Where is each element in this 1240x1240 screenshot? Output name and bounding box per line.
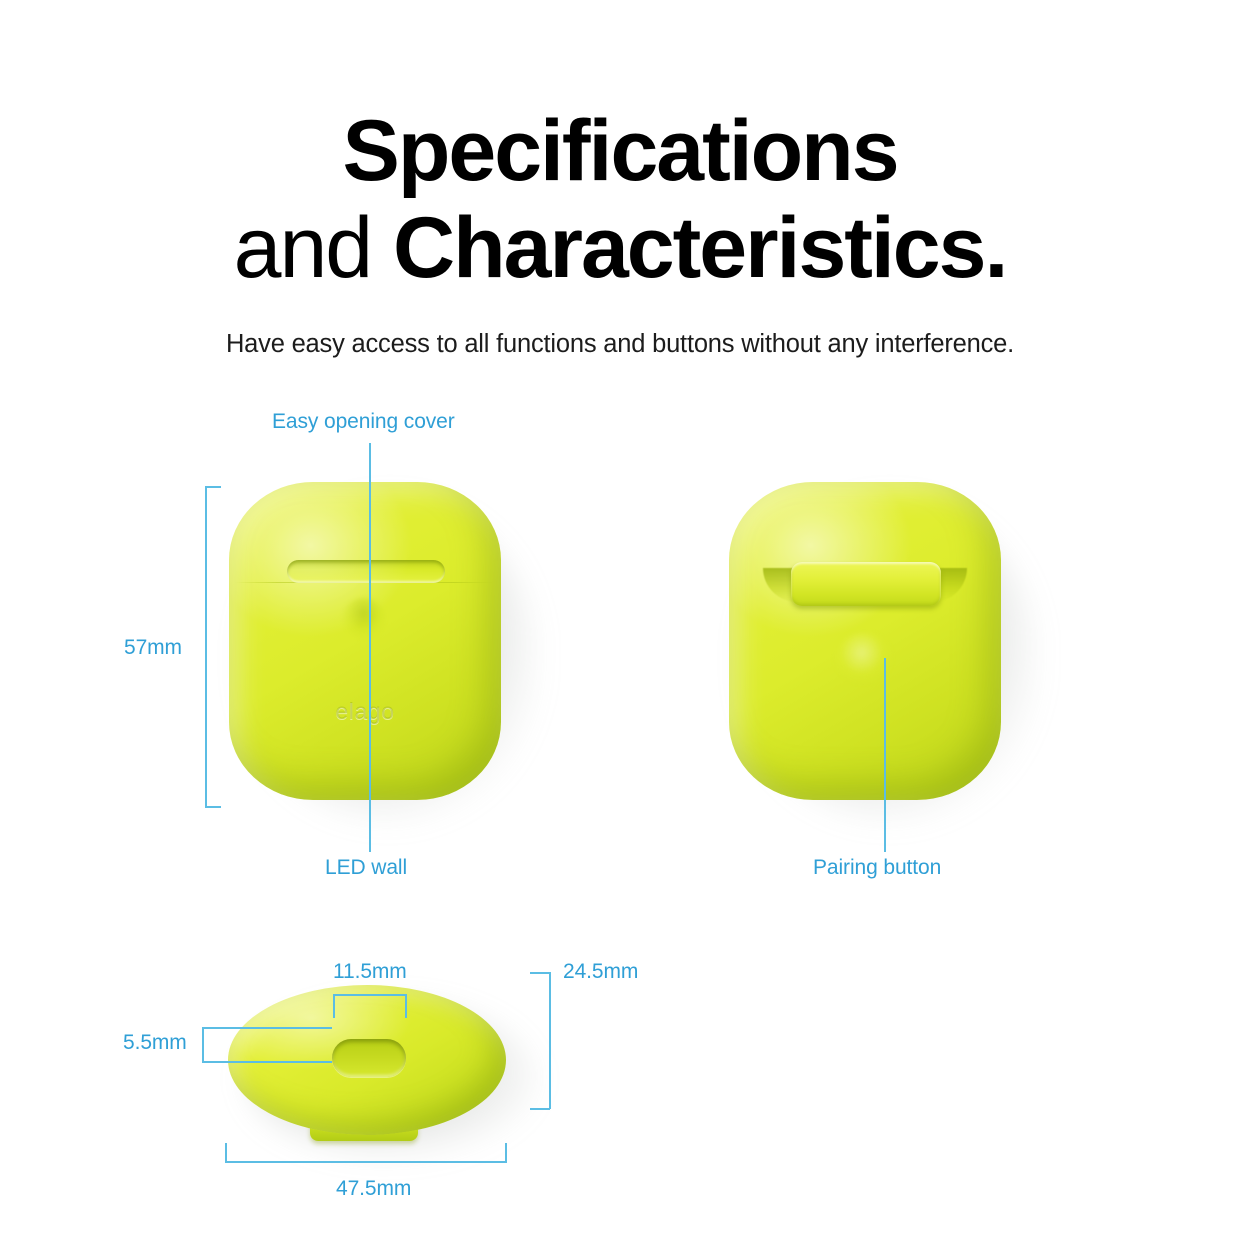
led-wall-dimple bbox=[343, 598, 385, 638]
back-view-figure bbox=[725, 478, 1025, 818]
bracket-57mm-tick-top bbox=[205, 486, 221, 488]
label-11-5mm: 11.5mm bbox=[333, 960, 407, 984]
easy-opening-cover-slot bbox=[287, 560, 445, 583]
leader-line-led-wall bbox=[369, 610, 371, 852]
bracket-11-5mm-horizontal bbox=[333, 994, 407, 996]
bracket-11-5mm-tick-left bbox=[333, 994, 335, 1018]
back-case-body bbox=[729, 482, 1001, 800]
label-easy-opening-cover: Easy opening cover bbox=[272, 410, 455, 434]
label-47-5mm: 47.5mm bbox=[336, 1177, 411, 1201]
bottom-view-figure bbox=[228, 985, 538, 1160]
page-title-line-2: and Characteristics. bbox=[0, 200, 1240, 296]
label-led-wall: LED wall bbox=[325, 856, 407, 880]
title-characteristics: Characteristics. bbox=[393, 200, 1006, 296]
bracket-57mm-vertical bbox=[205, 486, 207, 808]
page-subtitle: Have easy access to all functions and bu… bbox=[0, 330, 1240, 359]
title-and: and bbox=[234, 200, 393, 296]
bracket-24-5mm-vertical bbox=[549, 972, 551, 1109]
leader-line-pairing-button bbox=[884, 658, 886, 852]
bracket-5-5mm-tick-left bbox=[202, 1027, 204, 1062]
label-24-5mm: 24.5mm bbox=[563, 960, 638, 984]
bracket-5-5mm-line-top bbox=[202, 1027, 332, 1029]
page-header: Specifications and Characteristics. Have… bbox=[0, 0, 1240, 359]
bracket-24-5mm-tick-bottom bbox=[530, 1108, 550, 1110]
elago-brandmark: elago bbox=[229, 698, 501, 725]
label-5-5mm: 5.5mm bbox=[123, 1031, 187, 1055]
bracket-47-5mm-tick-right bbox=[505, 1143, 507, 1161]
bracket-5-5mm-line-bottom bbox=[202, 1061, 332, 1063]
bracket-47-5mm-horizontal bbox=[225, 1161, 507, 1163]
bottom-case-body bbox=[228, 985, 506, 1135]
bracket-24-5mm-tick-top bbox=[530, 972, 550, 974]
port-opening-cutout bbox=[332, 1039, 406, 1077]
hinge-cover-bar bbox=[791, 562, 941, 606]
bracket-11-5mm-tick-right bbox=[405, 994, 407, 1018]
label-57mm: 57mm bbox=[124, 636, 182, 660]
page-title-line-1: Specifications bbox=[0, 108, 1240, 194]
bracket-57mm-tick-bottom bbox=[205, 806, 221, 808]
label-pairing-button: Pairing button bbox=[813, 856, 941, 880]
bracket-47-5mm-tick-left bbox=[225, 1143, 227, 1161]
front-view-figure: elago bbox=[225, 478, 525, 818]
leader-line-easy-opening-cover bbox=[369, 443, 371, 618]
title-specifications: Specifications bbox=[342, 103, 897, 199]
front-case-body: elago bbox=[229, 482, 501, 800]
